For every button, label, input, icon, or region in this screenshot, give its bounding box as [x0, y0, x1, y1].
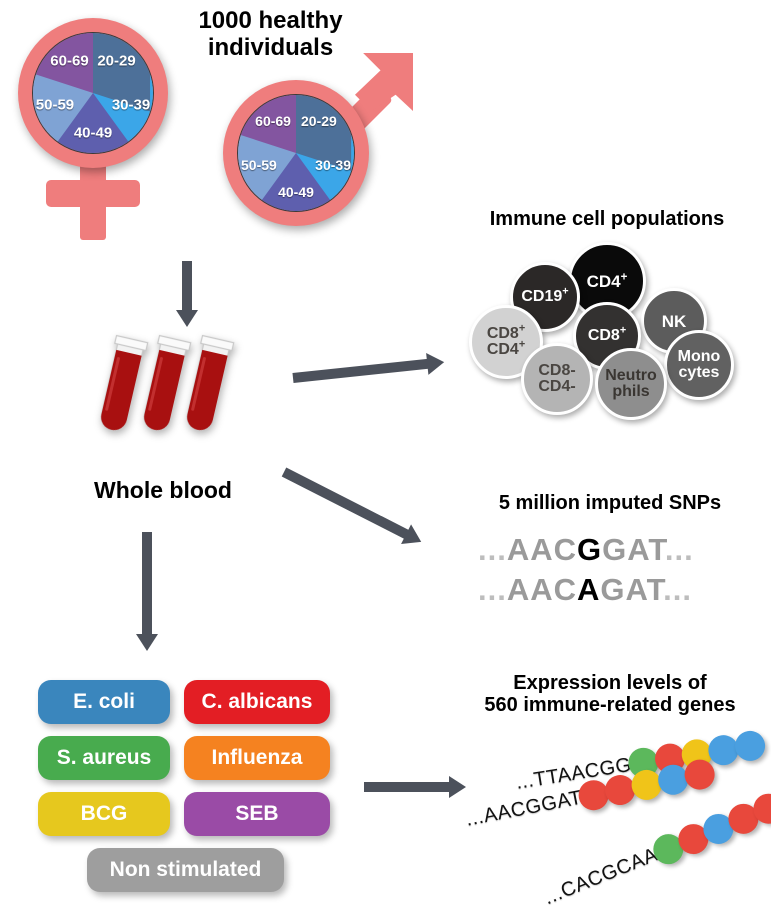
dna-bead [603, 772, 638, 807]
immune-cell-cd4-: CD4+ [568, 242, 646, 320]
arrow-head [136, 634, 158, 651]
immune-cell-cd8-: CD8+ [573, 302, 641, 370]
stimulus-c-albicans[interactable]: C. albicans [184, 680, 330, 724]
arrow-blood-to-stimuli [135, 532, 159, 657]
immune-populations-title: Immune cell populations [452, 208, 762, 230]
dna-bead [629, 767, 664, 802]
pie-label-20-29: 20-29 [301, 113, 337, 129]
stimulus-label: S. aureus [57, 746, 152, 770]
pie-label-30-39: 30-39 [315, 157, 351, 173]
dna-strand: ...AACGGAT [463, 757, 717, 835]
whole-blood-tubes [105, 330, 275, 455]
immune-cell-cd8-cd4-: CD8+CD4+ [469, 305, 543, 379]
immune-cell-label: CD8-CD4- [538, 363, 575, 395]
snp-sequence-row: ...AACGGAT... [478, 532, 694, 568]
dna-bead [679, 737, 713, 771]
dna-bead [626, 746, 660, 780]
pie-label-20-29: 20-29 [97, 52, 135, 69]
immune-cell-label: CD19+ [521, 289, 568, 305]
dna-bead [733, 729, 767, 763]
arrow-shaft [364, 782, 452, 792]
stimulus-influenza[interactable]: Influenza [184, 736, 330, 780]
dna-sequence-text: ...CACGCAA [541, 843, 661, 909]
stimulus-e-coli[interactable]: E. coli [38, 680, 170, 724]
cohort-title: 1000 healthy individuals [168, 8, 373, 62]
immune-cell-label: NK [662, 313, 687, 330]
arrow-shaft [292, 359, 430, 383]
stimulus-label: C. albicans [202, 690, 313, 714]
arrow-head [426, 351, 445, 375]
arrow-head [176, 310, 198, 327]
dna-sequence-text: ...TTAACGG [514, 753, 633, 794]
pie-label-40-49: 40-49 [278, 184, 314, 200]
stimulus-label: E. coli [73, 690, 135, 714]
pie-label-40-49: 40-49 [74, 125, 112, 142]
immune-cell-cd19-: CD19+ [510, 262, 580, 332]
female-symbol-crossbar [46, 180, 140, 207]
arrow-blood-to-immune [292, 349, 454, 390]
arrow-shaft [282, 468, 411, 540]
whole-blood-label: Whole blood [78, 478, 248, 504]
male-symbol-arrowhead [355, 53, 413, 111]
stimulus-s-aureus[interactable]: S. aureus [38, 736, 170, 780]
male-gender-symbol: 20-2930-3940-4950-5960-69 [205, 55, 420, 250]
immune-cell-label: CD8+CD4+ [487, 326, 525, 358]
arrow-head [449, 776, 466, 798]
arrow-stimuli-to-expression [364, 775, 474, 799]
pie-label-30-39: 30-39 [112, 97, 150, 114]
expression-title-line2: 560 immune-related genes [455, 694, 765, 716]
arrow-shaft [182, 261, 192, 313]
arrow-shaft [142, 532, 152, 637]
dna-strand: ...TTAACGG [514, 729, 767, 798]
stimulus-bcg[interactable]: BCG [38, 792, 170, 836]
pie-label-50-59: 50-59 [241, 157, 277, 173]
immune-cell-label: Neutrophils [605, 368, 657, 400]
immune-cell-monocytes: Monocytes [664, 330, 734, 400]
immune-cell-label: Monocytes [678, 349, 721, 381]
dna-bead [673, 820, 712, 859]
dna-bead [706, 733, 740, 767]
arrow-blood-to-snps [279, 461, 437, 557]
dna-strand: ...CACGCAA [539, 789, 771, 913]
dna-bead [749, 789, 771, 828]
dna-sequence-text: ...AACGGAT [464, 786, 584, 831]
snp-title: 5 million imputed SNPs [460, 492, 760, 514]
immune-cell-cd8-cd4-: CD8-CD4- [521, 343, 593, 415]
dna-bead [648, 830, 687, 869]
snp-sequences: ...AACGGAT......AACAGAT... [478, 532, 748, 612]
dna-bead [653, 741, 687, 775]
pie-label-60-69: 60-69 [255, 113, 291, 129]
snp-sequence-row: ...AACAGAT... [478, 572, 692, 608]
expression-title-line1: Expression levels of [455, 672, 765, 694]
stimulus-label: SEB [235, 802, 278, 826]
immune-cell-neutrophils: Neutrophils [595, 348, 667, 420]
stimulus-non-stimulated[interactable]: Non stimulated [87, 848, 284, 892]
arrow-cohort-to-blood [175, 261, 199, 327]
immune-cell-label: CD8+ [588, 328, 626, 344]
cohort-title-line1: 1000 healthy [168, 8, 373, 35]
dna-bead [723, 799, 762, 838]
dna-bead [576, 778, 611, 813]
dna-bead [656, 762, 691, 797]
stimulus-label: Influenza [211, 746, 302, 770]
female-gender-symbol: 20-2930-3940-4950-5960-69 [10, 12, 185, 247]
pie-label-60-69: 60-69 [50, 52, 88, 69]
expression-title: Expression levels of 560 immune-related … [455, 672, 765, 717]
stimulus-label: BCG [81, 802, 128, 826]
immune-cell-nk: NK [641, 288, 707, 354]
dna-bead [682, 757, 717, 792]
stimulus-seb[interactable]: SEB [184, 792, 330, 836]
dna-bead [698, 810, 737, 849]
stimulus-label: Non stimulated [110, 858, 262, 882]
pie-label-50-59: 50-59 [36, 97, 74, 114]
immune-cell-label: CD4+ [587, 273, 628, 290]
